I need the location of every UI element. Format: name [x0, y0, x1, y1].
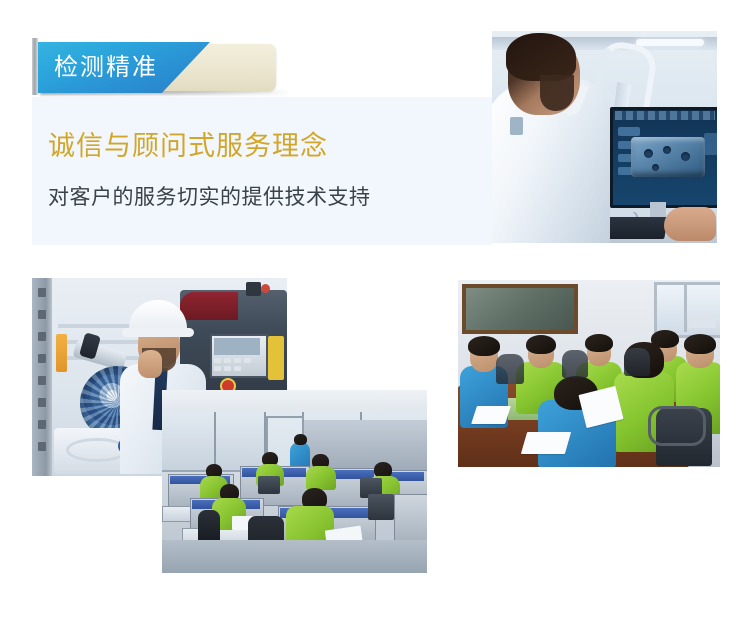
- intro-title: 诚信与顾问式服务理念: [48, 129, 328, 163]
- intro-panel: [32, 97, 492, 245]
- meeting-room-photo: [458, 280, 720, 467]
- ribbon-pole: [32, 38, 38, 95]
- intro-subtitle: 对客户的服务切实的提供技术支持: [48, 184, 371, 212]
- engineer-cad-workstation-photo: [492, 31, 717, 243]
- page-root: 检测精准 诚信与顾问式服务理念 对客户的服务切实的提供技术支持: [0, 0, 748, 627]
- office-cubicles-photo: [162, 390, 427, 573]
- ribbon-label: 检测精准: [54, 53, 158, 83]
